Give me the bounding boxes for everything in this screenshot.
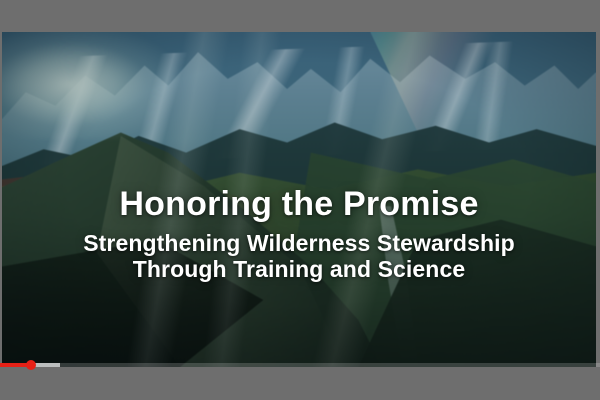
progress-scrubber-handle[interactable]: [26, 360, 36, 370]
player-control-bar[interactable]: [0, 367, 600, 400]
video-frame[interactable]: Honoring the Promise Strengthening Wilde…: [2, 32, 596, 367]
letterbox-bar-top: [0, 0, 600, 32]
image-softening: [2, 32, 596, 367]
letterbox-edge-right: [596, 0, 600, 400]
letterbox-edge-left: [0, 0, 2, 400]
video-player[interactable]: Honoring the Promise Strengthening Wilde…: [0, 0, 600, 400]
progress-bar[interactable]: [0, 363, 600, 367]
